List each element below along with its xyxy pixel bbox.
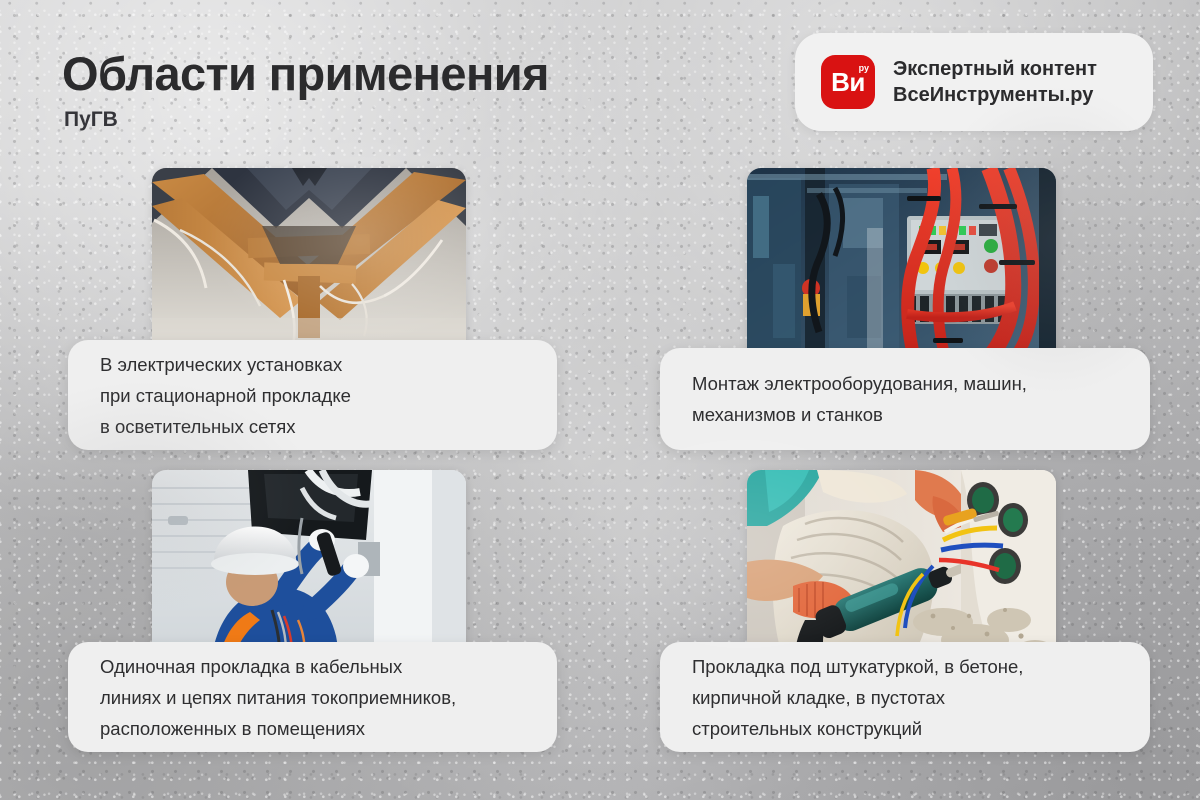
brand-badge-text: Экспертный контент ВсеИнструменты.ру xyxy=(893,58,1097,107)
caption-line: Одиночная прокладка в кабельных xyxy=(100,651,525,682)
caption-line: Прокладка под штукатуркой, в бетоне, xyxy=(692,651,1118,682)
page-title: Области применения xyxy=(62,46,549,101)
caption-card-2: Монтаж электрооборудования, машин, механ… xyxy=(660,348,1150,450)
caption-line: расположенных в помещениях xyxy=(100,713,525,744)
photo-wall-socket-drilling xyxy=(747,470,1056,670)
caption-card-1: В электрических установках при стационар… xyxy=(68,340,557,450)
brand-badge-line-1: Экспертный контент xyxy=(893,58,1097,81)
photo-attic-beams xyxy=(152,168,466,368)
infographic-canvas: Области применения ПуГВ Ви ру Экспертный… xyxy=(0,0,1200,800)
photo-industrial-control-panel xyxy=(747,168,1056,368)
caption-line: В электрических установках xyxy=(100,349,525,380)
photo-electrician-ceiling xyxy=(152,470,466,670)
logo-superscript-text: ру xyxy=(859,64,869,73)
brand-badge-line-2: ВсеИнструменты.ру xyxy=(893,84,1097,107)
page-subtitle: ПуГВ xyxy=(64,108,118,132)
caption-line: Монтаж электрооборудования, машин, xyxy=(692,368,1118,399)
caption-line: линиях и цепях питания токоприемников, xyxy=(100,682,525,713)
caption-line: кирпичной кладке, в пустотах xyxy=(692,682,1118,713)
brand-badge: Ви ру Экспертный контент ВсеИнструменты.… xyxy=(795,33,1153,131)
caption-line: строительных конструкций xyxy=(692,713,1118,744)
caption-line: механизмов и станков xyxy=(692,399,1118,430)
caption-card-4: Прокладка под штукатуркой, в бетоне, кир… xyxy=(660,642,1150,752)
caption-line: в осветительных сетях xyxy=(100,411,525,442)
vseinstrumenty-logo-icon: Ви ру xyxy=(821,55,875,109)
caption-line: при стационарной прокладке xyxy=(100,380,525,411)
caption-card-3: Одиночная прокладка в кабельных линиях и… xyxy=(68,642,557,752)
